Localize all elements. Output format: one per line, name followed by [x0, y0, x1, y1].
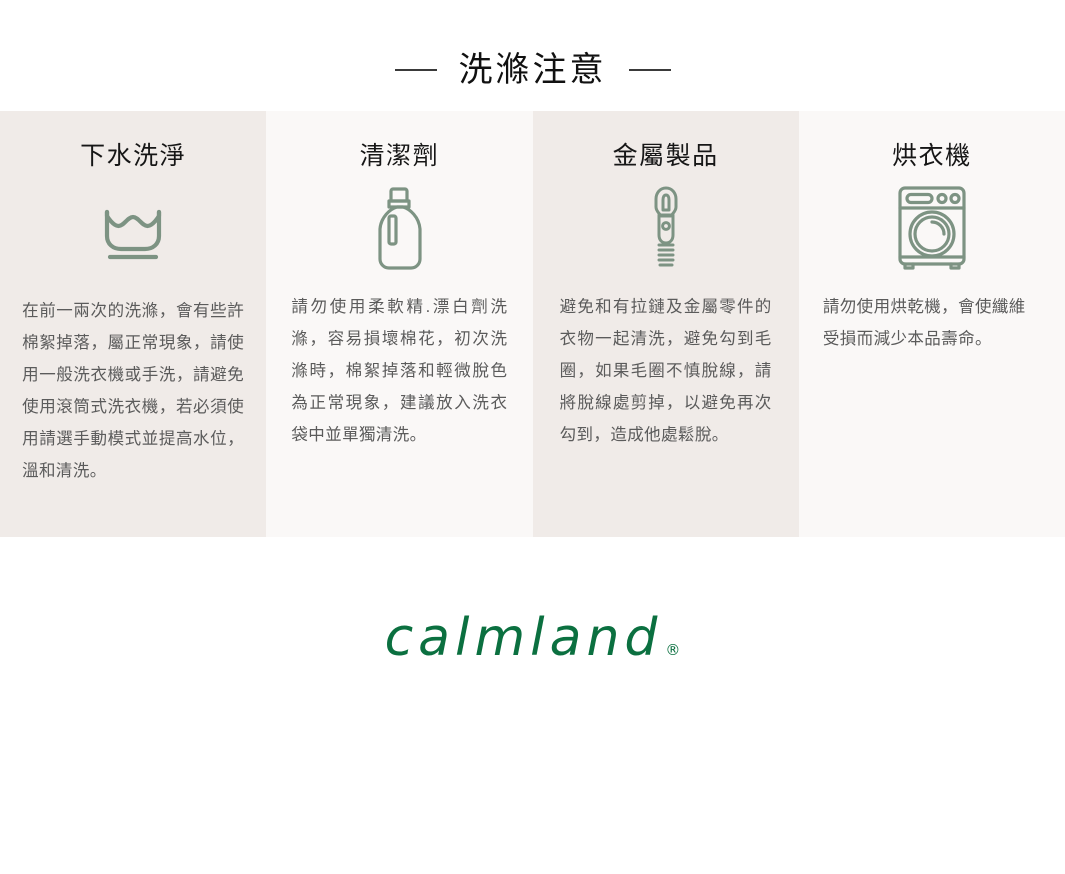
care-column-title: 烘衣機	[892, 143, 972, 171]
page-title: 洗滌注意	[459, 53, 607, 87]
wash-tub-icon	[94, 185, 172, 281]
registered-trademark-icon: ®	[665, 643, 680, 658]
title-rule-right	[629, 69, 671, 71]
care-columns: 下水洗淨 在前一兩次的洗滌，會有些許棉絮掉落，屬正常現象，請使用一般洗衣機或手洗…	[0, 111, 1065, 537]
care-column-detergent: 清潔劑 請勿使用柔軟精.漂白劑洗滌，容易損壞棉花，初次洗滌時，棉絮掉落和輕微脫色…	[266, 111, 532, 537]
care-column-body: 請勿使用柔軟精.漂白劑洗滌，容易損壞棉花，初次洗滌時，棉絮掉落和輕微脫色為正常現…	[291, 291, 507, 452]
care-column-title: 清潔劑	[360, 143, 440, 171]
care-column-dryer: 烘衣機	[799, 111, 1065, 537]
title-rule-left	[395, 69, 437, 71]
care-column-body: 請勿使用烘乾機，會使纖維受損而減少本品壽命。	[823, 291, 1041, 355]
care-column-body: 避免和有拉鏈及金屬零件的衣物一起清洗，避免勾到毛圈，如果毛圈不慎脫線，請將脫線處…	[560, 291, 772, 452]
care-column-metal: 金屬製品 避免和有拉鏈及金屬零件的衣物一起清洗，避免勾到毛圈	[533, 111, 799, 537]
washing-machine-icon	[892, 181, 972, 277]
care-column-body: 在前一兩次的洗滌，會有些許棉絮掉落，屬正常現象，請使用一般洗衣機或手洗，請避免使…	[22, 295, 244, 488]
brand-logo: calmland ®	[0, 612, 1065, 664]
care-instructions-page: 洗滌注意 下水洗淨 在前一兩次的洗滌，會有些許棉絮掉落，屬正常現象，請使用一般洗…	[0, 0, 1065, 874]
section-title-row: 洗滌注意	[0, 44, 1065, 96]
care-column-title: 下水洗淨	[80, 143, 186, 171]
brand-wordmark: calmland	[385, 612, 663, 664]
care-column-title: 金屬製品	[613, 143, 719, 171]
detergent-bottle-icon	[373, 181, 425, 277]
care-column-wash: 下水洗淨 在前一兩次的洗滌，會有些許棉絮掉落，屬正常現象，請使用一般洗衣機或手洗…	[0, 111, 266, 537]
zipper-icon	[646, 181, 686, 277]
